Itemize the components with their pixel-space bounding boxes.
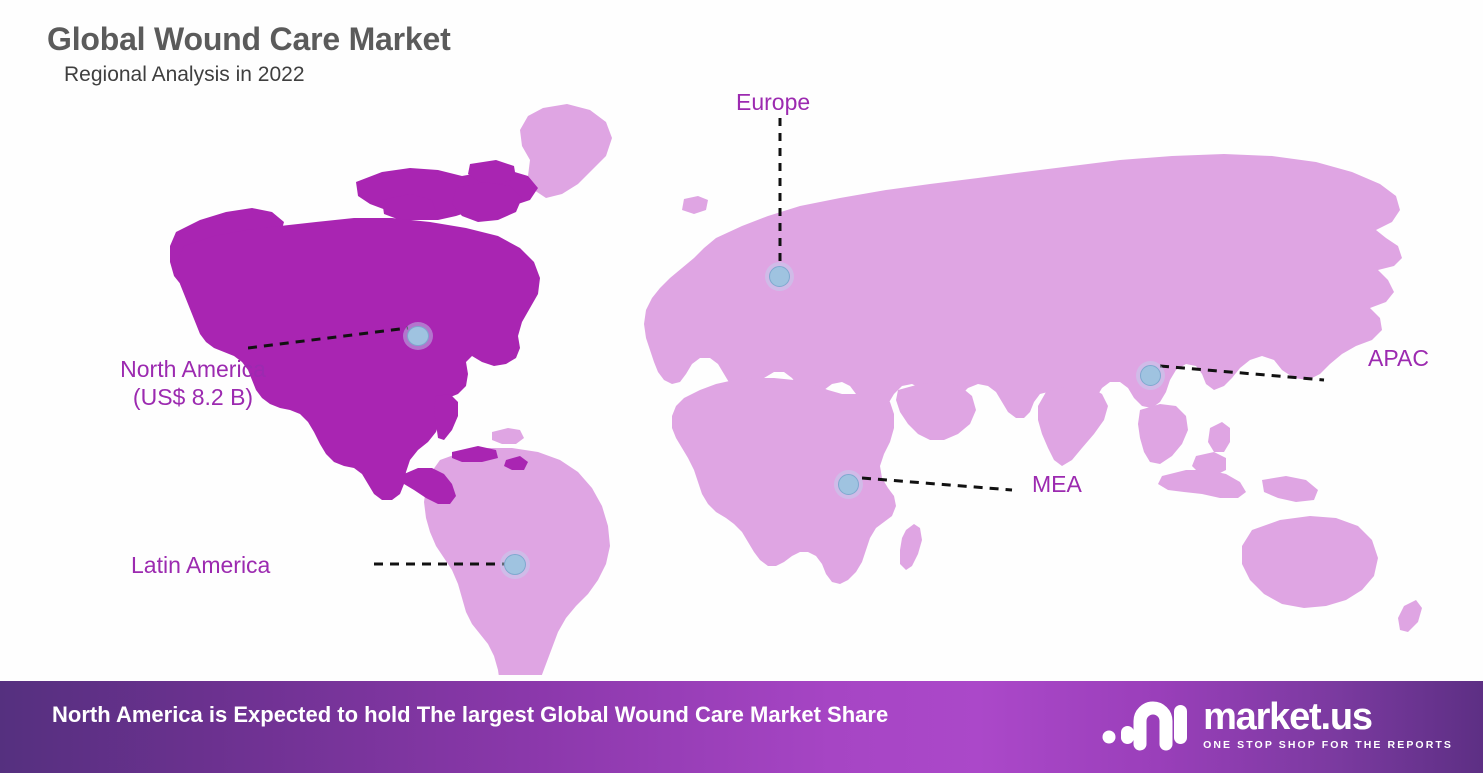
footer-banner: North America is Expected to hold The la… xyxy=(0,681,1483,773)
map-marker-mea[interactable] xyxy=(838,474,859,495)
map-marker-latin-america[interactable] xyxy=(504,554,526,575)
leader-line-north-america xyxy=(248,318,414,356)
market-us-logo[interactable]: market.us ONE STOP SHOP FOR THE REPORTS xyxy=(1102,695,1453,753)
region-label-europe-text: Europe xyxy=(736,89,810,115)
region-label-apac-text: APAC xyxy=(1368,345,1429,371)
region-label-mea-text: MEA xyxy=(1032,471,1082,497)
logo-wordmark: market.us xyxy=(1203,698,1453,736)
leader-line-apac xyxy=(1160,358,1330,388)
leader-line-latin-america xyxy=(374,552,510,576)
market-us-logo-mark-icon xyxy=(1102,695,1190,753)
region-label-north-america[interactable]: North America (US$ 8.2 B) xyxy=(100,355,286,411)
map-marker-europe[interactable] xyxy=(769,266,790,287)
page-title: Global Wound Care Market xyxy=(47,22,451,57)
page-subtitle: Regional Analysis in 2022 xyxy=(64,63,451,86)
region-label-mea[interactable]: MEA xyxy=(1032,470,1082,498)
region-label-latin-america-text: Latin America xyxy=(131,552,270,578)
region-label-apac[interactable]: APAC xyxy=(1368,344,1429,372)
leader-line-europe xyxy=(770,118,790,276)
header: Global Wound Care Market Regional Analys… xyxy=(47,22,451,86)
region-label-latin-america[interactable]: Latin America xyxy=(131,551,270,579)
region-value-north-america: (US$ 8.2 B) xyxy=(100,383,286,411)
footer-callout: North America is Expected to hold The la… xyxy=(52,700,952,730)
map-marker-apac[interactable] xyxy=(1140,365,1161,386)
map-marker-north-america[interactable] xyxy=(407,326,429,346)
region-label-north-america-text: North America xyxy=(120,356,266,382)
infographic-page: Global Wound Care Market Regional Analys… xyxy=(0,0,1483,773)
logo-tagline: ONE STOP SHOP FOR THE REPORTS xyxy=(1203,740,1453,751)
market-us-logo-text: market.us ONE STOP SHOP FOR THE REPORTS xyxy=(1203,698,1453,751)
leader-line-mea xyxy=(862,472,1018,498)
region-label-europe[interactable]: Europe xyxy=(736,88,810,116)
